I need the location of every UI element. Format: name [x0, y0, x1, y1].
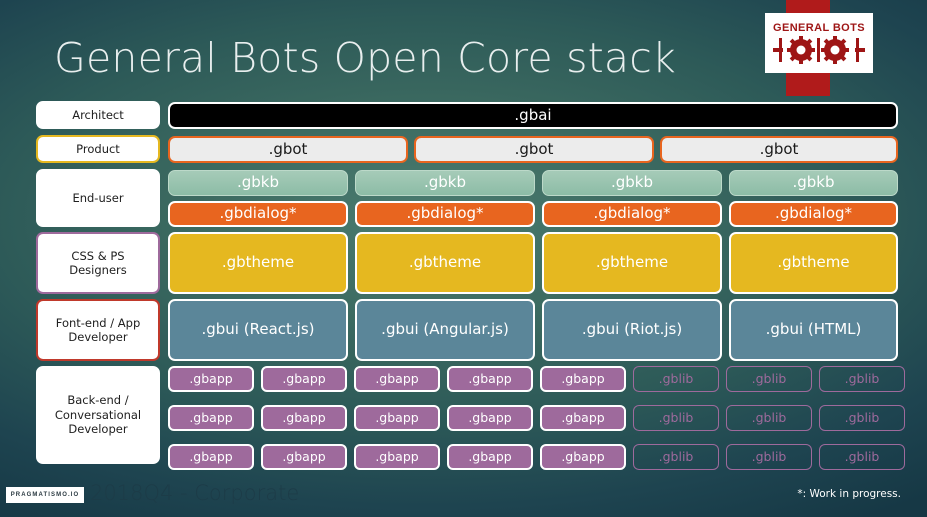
- layer-gbtheme[interactable]: .gbtheme: [542, 232, 722, 294]
- layer-gbui-react[interactable]: .gbui (React.js): [168, 299, 348, 361]
- layer-label: .gbapp: [189, 450, 232, 464]
- layer-label: .gbapp: [375, 450, 418, 464]
- role-label: CSS & PS Designers: [42, 249, 154, 278]
- footer-caption: 2018Q4 - Corporate: [90, 481, 299, 505]
- layer-label: .gbai: [514, 107, 551, 124]
- layer-label: .gbapp: [561, 450, 604, 464]
- layer-label: .gbapp: [561, 372, 604, 386]
- layer-gbtheme[interactable]: .gbtheme: [729, 232, 898, 294]
- layer-gbapp[interactable]: .gbapp: [168, 444, 254, 470]
- layer-label: .gbot: [760, 141, 799, 158]
- layer-gbdialog[interactable]: .gbdialog*: [729, 201, 898, 227]
- layer-label: .gbui (Riot.js): [582, 321, 682, 338]
- layer-label: .gbkb: [237, 174, 279, 191]
- layer-label: .gbtheme: [222, 254, 294, 271]
- layer-gbkb[interactable]: .gbkb: [542, 170, 722, 196]
- layer-gbapp[interactable]: .gbapp: [261, 405, 347, 431]
- layer-gbkb[interactable]: .gbkb: [729, 170, 898, 196]
- layer-label: .gbtheme: [409, 254, 481, 271]
- layer-label: .gbdialog*: [219, 205, 296, 222]
- layer-label: .gbapp: [282, 372, 325, 386]
- layer-label: .gbapp: [189, 372, 232, 386]
- stack-diagram: Architect Product End-user CSS & PS Desi…: [36, 101, 898, 478]
- layer-gbkb[interactable]: .gbkb: [168, 170, 348, 196]
- layer-gbot[interactable]: .gbot: [168, 136, 408, 163]
- layer-label: .gbtheme: [596, 254, 668, 271]
- layer-label: .gbkb: [792, 174, 834, 191]
- layer-gbapp[interactable]: .gbapp: [540, 444, 626, 470]
- layer-gbapp[interactable]: .gbapp: [354, 444, 440, 470]
- layer-gbapp[interactable]: .gbapp: [447, 405, 533, 431]
- role-product[interactable]: Product: [36, 135, 160, 163]
- layer-label: .gbot: [515, 141, 554, 158]
- layer-gbkb[interactable]: .gbkb: [355, 170, 535, 196]
- layer-gbdialog[interactable]: .gbdialog*: [542, 201, 722, 227]
- layer-gblib[interactable]: .gblib: [633, 366, 719, 392]
- layer-gbdialog[interactable]: .gbdialog*: [355, 201, 535, 227]
- layer-gbai[interactable]: .gbai: [168, 102, 898, 129]
- layer-label: .gbapp: [375, 411, 418, 425]
- role-label: Architect: [72, 108, 124, 122]
- layer-label: .gbapp: [468, 411, 511, 425]
- layer-label: .gbui (React.js): [201, 321, 314, 338]
- layer-gblib[interactable]: .gblib: [633, 405, 719, 431]
- pragmatismo-logo: PRAGMATISMO.IO: [6, 487, 84, 503]
- layer-gbapp[interactable]: .gbapp: [354, 366, 440, 392]
- layer-gblib[interactable]: .gblib: [819, 444, 905, 470]
- role-css-ps-designers[interactable]: CSS & PS Designers: [36, 232, 160, 294]
- role-label: Back-end / Conversational Developer: [42, 393, 154, 436]
- layer-label: .gbapp: [375, 372, 418, 386]
- layer-gbui-riot[interactable]: .gbui (Riot.js): [542, 299, 722, 361]
- layer-label: .gbapp: [468, 450, 511, 464]
- role-backend-conversational-developer[interactable]: Back-end / Conversational Developer: [36, 366, 160, 464]
- layer-label: .gbdialog*: [406, 205, 483, 222]
- layer-gbapp[interactable]: .gbapp: [168, 366, 254, 392]
- layer-label: .gbapp: [282, 450, 325, 464]
- layer-label: .gblib: [659, 372, 694, 386]
- layer-gblib[interactable]: .gblib: [819, 405, 905, 431]
- slide-title: General Bots Open Core stack: [54, 34, 676, 82]
- layer-label: .gblib: [752, 450, 787, 464]
- slide-canvas: GENERAL BOTS: [0, 0, 927, 517]
- role-label: End-user: [72, 191, 123, 205]
- layer-label: .gbdialog*: [775, 205, 852, 222]
- layer-gbtheme[interactable]: .gbtheme: [168, 232, 348, 294]
- layer-gbot[interactable]: .gbot: [660, 136, 898, 163]
- layer-label: .gbapp: [189, 411, 232, 425]
- layer-label: .gbui (Angular.js): [381, 321, 509, 338]
- layer-gbdialog[interactable]: .gbdialog*: [168, 201, 348, 227]
- layer-gblib[interactable]: .gblib: [726, 366, 812, 392]
- layer-gbui-html[interactable]: .gbui (HTML): [729, 299, 898, 361]
- layer-gbapp[interactable]: .gbapp: [540, 405, 626, 431]
- role-label: Font-end / App Developer: [42, 316, 154, 345]
- layer-gbapp[interactable]: .gbapp: [354, 405, 440, 431]
- footnote-work-in-progress: *: Work in progress.: [797, 488, 901, 500]
- layer-label: .gbdialog*: [593, 205, 670, 222]
- layer-label: .gbot: [269, 141, 308, 158]
- layer-label: .gbtheme: [777, 254, 849, 271]
- layer-label: .gbapp: [561, 411, 604, 425]
- layer-label: .gbui (HTML): [766, 321, 862, 338]
- layer-gbapp[interactable]: .gbapp: [447, 444, 533, 470]
- layer-gblib[interactable]: .gblib: [726, 405, 812, 431]
- layer-label: .gblib: [845, 411, 880, 425]
- role-end-user[interactable]: End-user: [36, 169, 160, 227]
- layer-gbapp[interactable]: .gbapp: [447, 366, 533, 392]
- layer-gblib[interactable]: .gblib: [633, 444, 719, 470]
- role-column: Architect Product End-user CSS & PS Desi…: [36, 101, 160, 478]
- logo-wordmark: GENERAL BOTS: [773, 22, 865, 34]
- layer-label: .gblib: [752, 411, 787, 425]
- layer-label: .gblib: [845, 372, 880, 386]
- role-frontend-app-developer[interactable]: Font-end / App Developer: [36, 299, 160, 361]
- layer-gbapp[interactable]: .gbapp: [261, 366, 347, 392]
- layer-label: .gblib: [752, 372, 787, 386]
- role-architect[interactable]: Architect: [36, 101, 160, 129]
- gears-icon: [773, 36, 865, 64]
- general-bots-logo: GENERAL BOTS: [765, 13, 873, 73]
- layer-label: .gbkb: [424, 174, 466, 191]
- layer-gbapp[interactable]: .gbapp: [168, 405, 254, 431]
- role-label: Product: [76, 142, 120, 156]
- layer-gbapp[interactable]: .gbapp: [540, 366, 626, 392]
- layer-gbot[interactable]: .gbot: [414, 136, 654, 163]
- layer-gblib[interactable]: .gblib: [819, 366, 905, 392]
- footer: PRAGMATISMO.IO 2018Q4 - Corporate *: Wor…: [0, 479, 927, 517]
- layer-label: .gblib: [659, 450, 694, 464]
- layer-label: .gblib: [659, 411, 694, 425]
- layer-label: .gblib: [845, 450, 880, 464]
- layer-gblib[interactable]: .gblib: [726, 444, 812, 470]
- layer-label: .gbkb: [611, 174, 653, 191]
- layer-label: .gbapp: [282, 411, 325, 425]
- layer-gbapp[interactable]: .gbapp: [261, 444, 347, 470]
- layer-gbui-angular[interactable]: .gbui (Angular.js): [355, 299, 535, 361]
- layer-gbtheme[interactable]: .gbtheme: [355, 232, 535, 294]
- layer-label: .gbapp: [468, 372, 511, 386]
